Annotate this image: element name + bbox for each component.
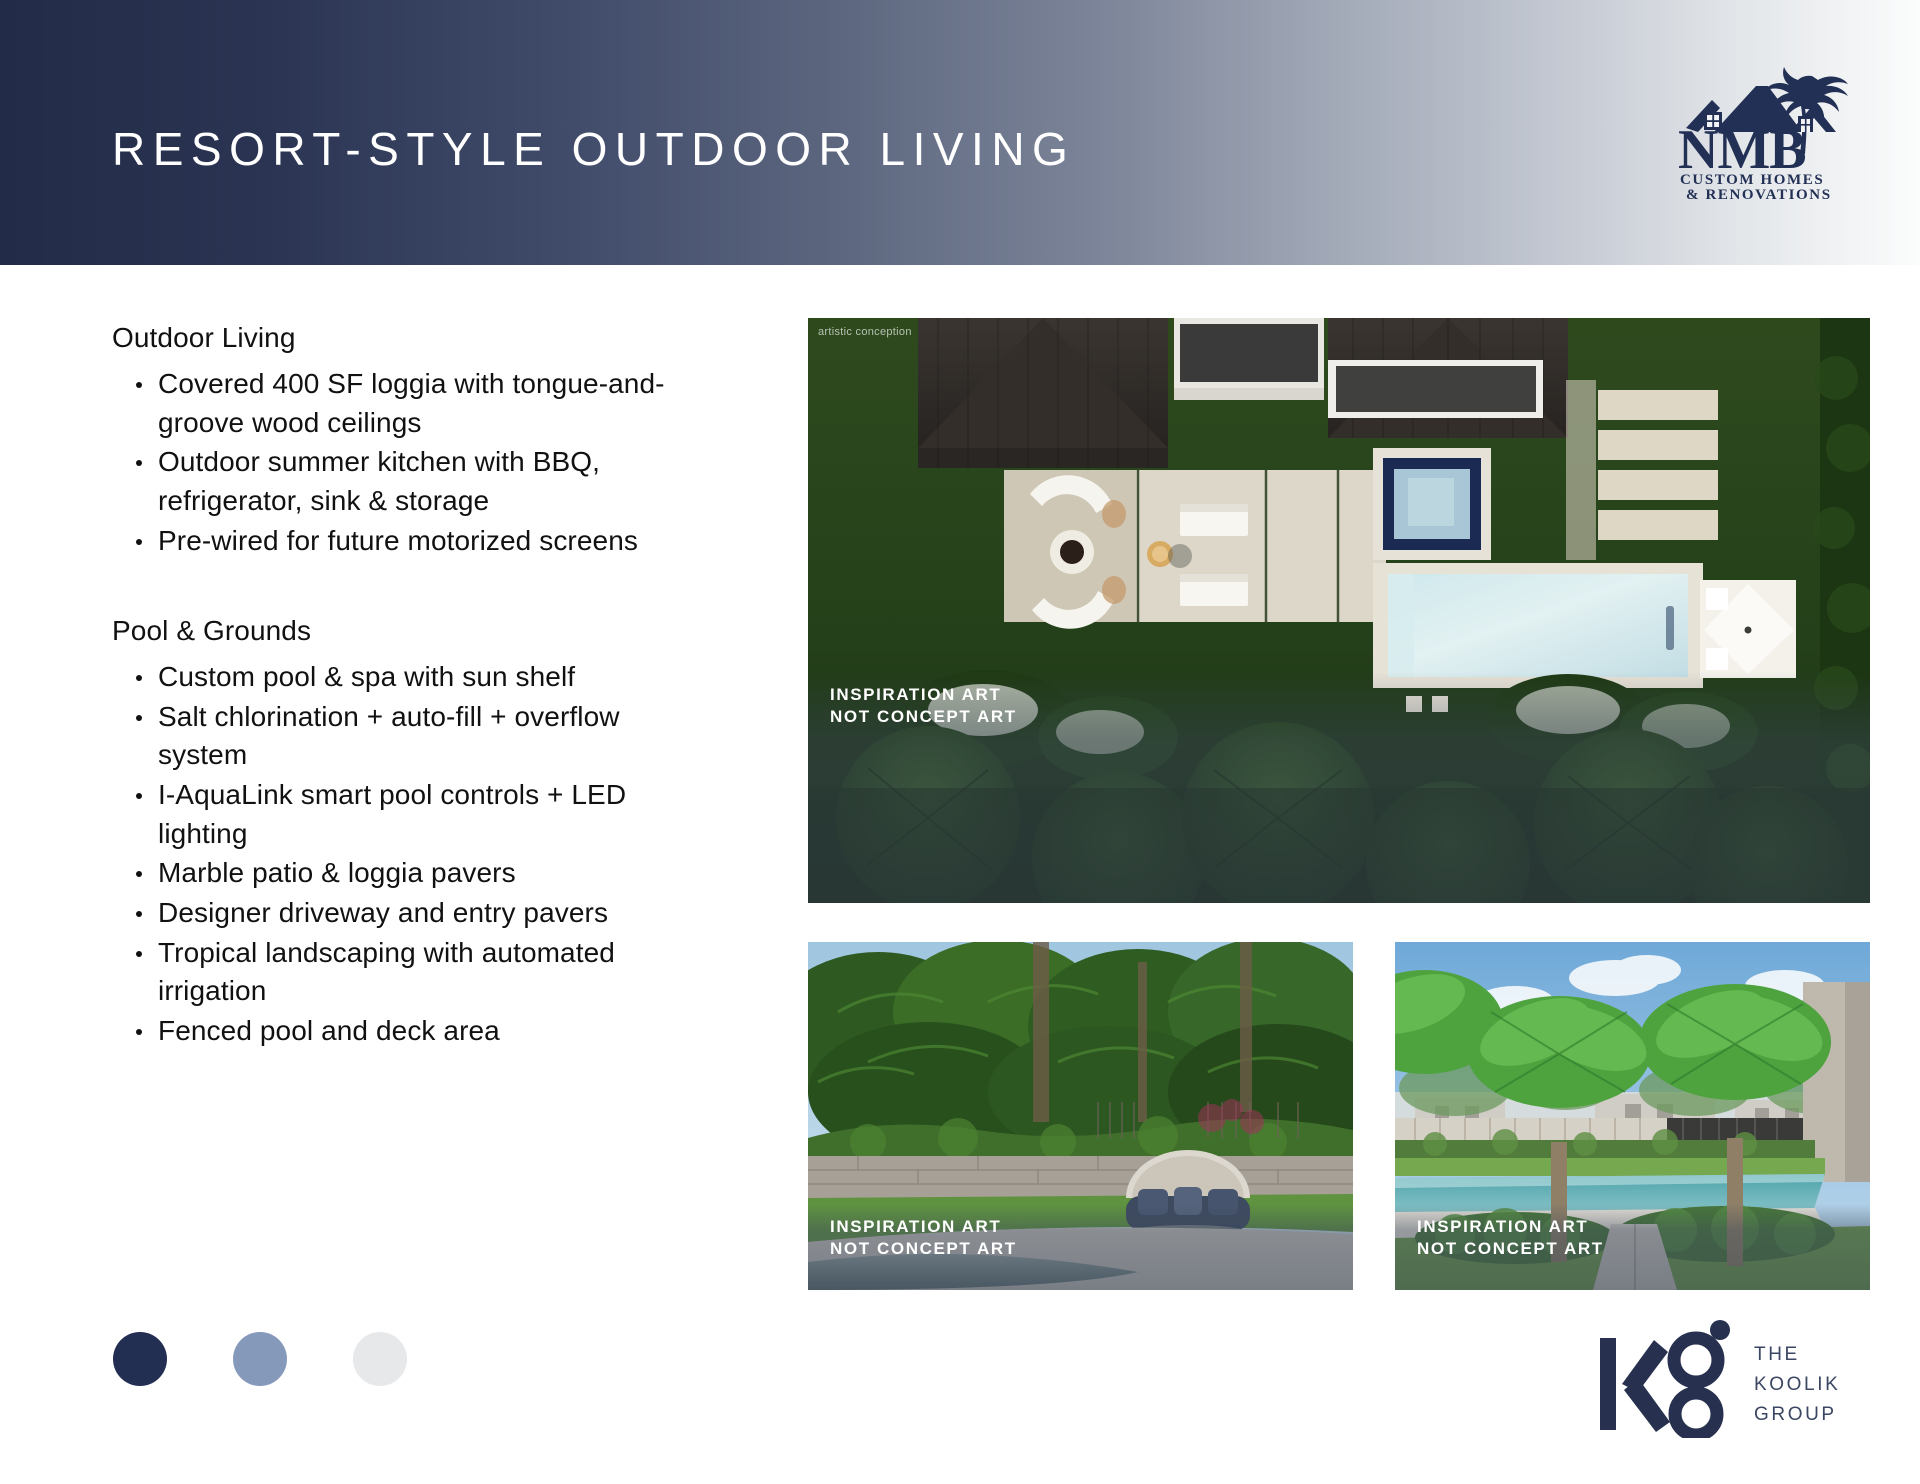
swatch-dot-light-gray <box>353 1332 407 1386</box>
bullet-list-outdoor-living: Covered 400 SF loggia with tongue-and-gr… <box>112 365 712 560</box>
artistic-conception-note: artistic conception <box>818 326 912 338</box>
thumb-left-caption: INSPIRATION ART NOT CONCEPT ART <box>808 1204 1353 1290</box>
list-item: Designer driveway and entry pavers <box>112 894 712 933</box>
section-spacer <box>112 561 712 613</box>
list-item: Marble patio & loggia pavers <box>112 854 712 893</box>
caption-line-2: NOT CONCEPT ART <box>830 706 1870 728</box>
list-item: Salt chlorination + auto-fill + overflow… <box>112 698 712 775</box>
section-heading: Outdoor Living <box>112 320 712 355</box>
list-item: Outdoor summer kitchen with BBQ, refrige… <box>112 443 712 520</box>
list-item: Tropical landscaping with automated irri… <box>112 934 712 1011</box>
koolik-group-logo: THE KOOLIK GROUP <box>1596 1318 1876 1438</box>
thumb-right-caption: INSPIRATION ART NOT CONCEPT ART <box>1395 1204 1870 1290</box>
caption-line-1: INSPIRATION ART <box>1417 1216 1870 1238</box>
hero-image-aerial-rendering: artistic conception INSPIRATION ART NOT … <box>808 318 1870 903</box>
caption-line-1: INSPIRATION ART <box>830 684 1870 706</box>
list-item: Fenced pool and deck area <box>112 1012 712 1051</box>
svg-text:CUSTOM HOMES: CUSTOM HOMES <box>1680 172 1824 188</box>
thumbnail-garden-daybed: INSPIRATION ART NOT CONCEPT ART <box>808 942 1353 1290</box>
svg-text:& RENOVATIONS: & RENOVATIONS <box>1686 187 1832 200</box>
section-outdoor-living: Outdoor Living Covered 400 SF loggia wit… <box>112 320 712 560</box>
list-item: Pre-wired for future motorized screens <box>112 522 712 561</box>
list-item: I-AquaLink smart pool controls + LED lig… <box>112 776 712 853</box>
thumbnail-pool-palms: INSPIRATION ART NOT CONCEPT ART <box>1395 942 1870 1290</box>
caption-line-2: NOT CONCEPT ART <box>1417 1238 1870 1260</box>
koolik-line-1: THE <box>1754 1344 1800 1365</box>
hero-caption: INSPIRATION ART NOT CONCEPT ART <box>808 672 1870 903</box>
section-heading: Pool & Grounds <box>112 613 712 648</box>
caption-line-2: NOT CONCEPT ART <box>830 1238 1353 1260</box>
section-pool-grounds: Pool & Grounds Custom pool & spa with su… <box>112 613 712 1050</box>
list-item: Covered 400 SF loggia with tongue-and-gr… <box>112 365 712 442</box>
caption-line-1: INSPIRATION ART <box>830 1216 1353 1238</box>
list-item: Custom pool & spa with sun shelf <box>112 658 712 697</box>
bullet-list-pool-grounds: Custom pool & spa with sun shelf Salt ch… <box>112 658 712 1050</box>
swatch-dot-slate-blue <box>233 1332 287 1386</box>
swatch-dot-dark-navy <box>113 1332 167 1386</box>
page-title: RESORT-STYLE OUTDOOR LIVING <box>112 122 1075 176</box>
header-band: RESORT-STYLE OUTDOOR LIVING <box>0 0 1920 265</box>
color-swatch-row <box>113 1332 407 1386</box>
content-column: Outdoor Living Covered 400 SF loggia wit… <box>112 320 712 1051</box>
koolik-line-3: GROUP <box>1754 1404 1837 1425</box>
koolik-line-2: KOOLIK <box>1754 1374 1840 1395</box>
nmb-logo: NMB CUSTOM HOMES & RENOVATIONS <box>1668 60 1868 200</box>
